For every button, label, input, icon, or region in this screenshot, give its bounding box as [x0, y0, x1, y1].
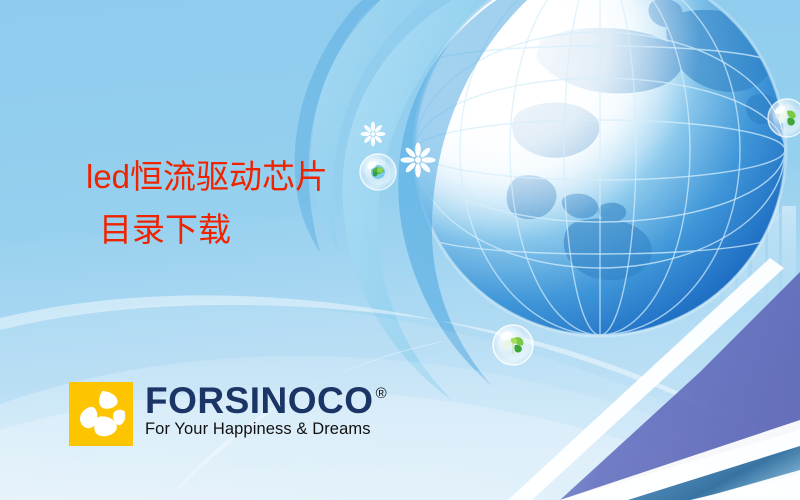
headline-line-1: led恒流驱动芯片 — [86, 160, 426, 193]
slide-canvas: led恒流驱动芯片 目录下载 FORSINOCO — [0, 0, 800, 500]
bubble-edge — [768, 99, 800, 137]
logo-text-block: FORSINOCO ® For Your Happiness & Dreams — [145, 382, 387, 439]
brand-logo: FORSINOCO ® For Your Happiness & Dreams — [69, 382, 387, 446]
logo-brand-text: FORSINOCO — [145, 384, 374, 418]
logo-mark — [69, 382, 133, 446]
registered-trademark-icon: ® — [376, 386, 388, 401]
four-petal-pinwheel-icon — [69, 382, 133, 446]
headline-block: led恒流驱动芯片 目录下载 — [86, 160, 426, 246]
bubble-leaf — [493, 325, 533, 365]
logo-tagline: For Your Happiness & Dreams — [145, 420, 387, 439]
logo-wordmark: FORSINOCO ® — [145, 384, 387, 418]
headline-line-2: 目录下载 — [99, 213, 426, 246]
